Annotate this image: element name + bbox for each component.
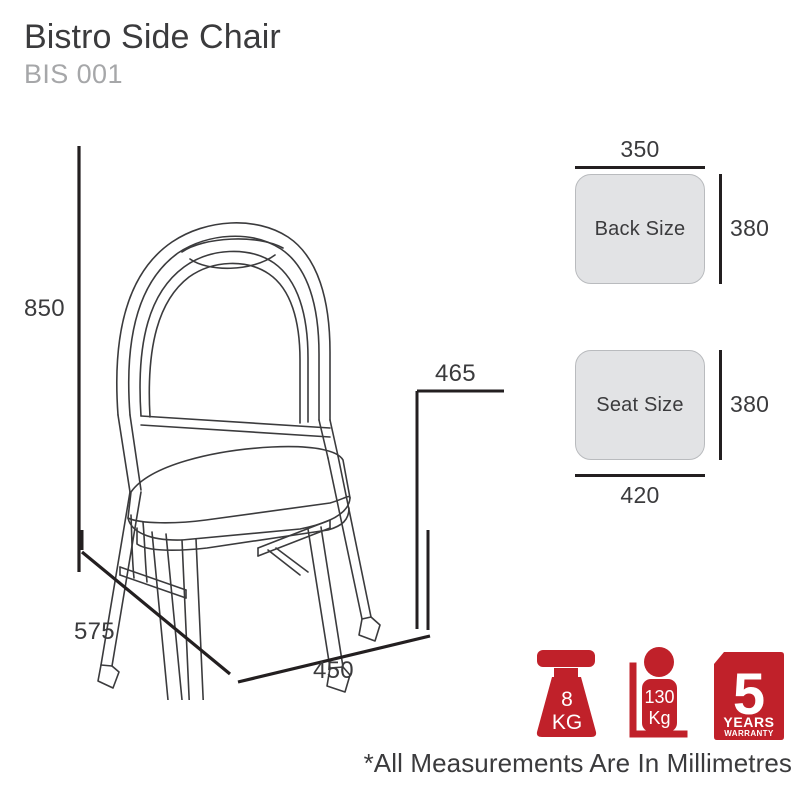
spec-sheet: Bistro Side Chair BIS 001 — [0, 0, 800, 800]
weight-value: 8 — [561, 688, 573, 711]
back-width-label: 350 — [575, 136, 705, 163]
warranty-line2: WARRANTY — [724, 729, 774, 738]
seat-size-box: Seat Size — [575, 350, 705, 460]
seat-size-box-label: Seat Size — [596, 394, 683, 417]
seat-width-label: 420 — [575, 482, 705, 509]
person-capacity-icon: 130 Kg — [624, 644, 688, 744]
back-height-label: 380 — [730, 215, 769, 242]
warranty-ribbon-icon: 5 YEARS WARRANTY — [700, 644, 790, 748]
warranty-line1: YEARS — [723, 714, 774, 730]
dimension-depth-label: 575 — [74, 618, 115, 646]
product-weight-badge: 8 KG — [528, 644, 606, 744]
warranty-badge: 5 YEARS WARRANTY — [700, 644, 790, 748]
header: Bistro Side Chair BIS 001 — [24, 18, 544, 90]
product-code: BIS 001 — [24, 58, 544, 90]
back-size-box-label: Back Size — [595, 218, 686, 241]
seat-width-rule — [575, 474, 705, 477]
seat-height-rule — [719, 350, 722, 460]
measurement-note: *All Measurements Are In Millimetres — [0, 748, 792, 779]
weight-unit: KG — [552, 711, 582, 734]
badge-row: 8 KG 130 Kg 5 YEARS WARRANTY — [528, 644, 790, 748]
page-title: Bistro Side Chair — [24, 18, 544, 56]
capacity-value: 130 — [644, 687, 674, 707]
capacity-unit: Kg — [648, 708, 670, 728]
dimension-width-label: 450 — [313, 657, 354, 685]
back-height-rule — [719, 174, 722, 284]
footprint-dimension-lines — [60, 530, 460, 700]
dimension-seat-height-label: 465 — [435, 360, 476, 388]
height-dimension-line — [70, 140, 90, 580]
dimension-height-label: 850 — [24, 295, 65, 323]
back-width-rule — [575, 166, 705, 169]
seat-height-label: 380 — [730, 391, 769, 418]
weight-capacity-badge: 130 Kg — [624, 644, 688, 744]
weight-icon: 8 KG — [528, 644, 606, 744]
back-size-box: Back Size — [575, 174, 705, 284]
